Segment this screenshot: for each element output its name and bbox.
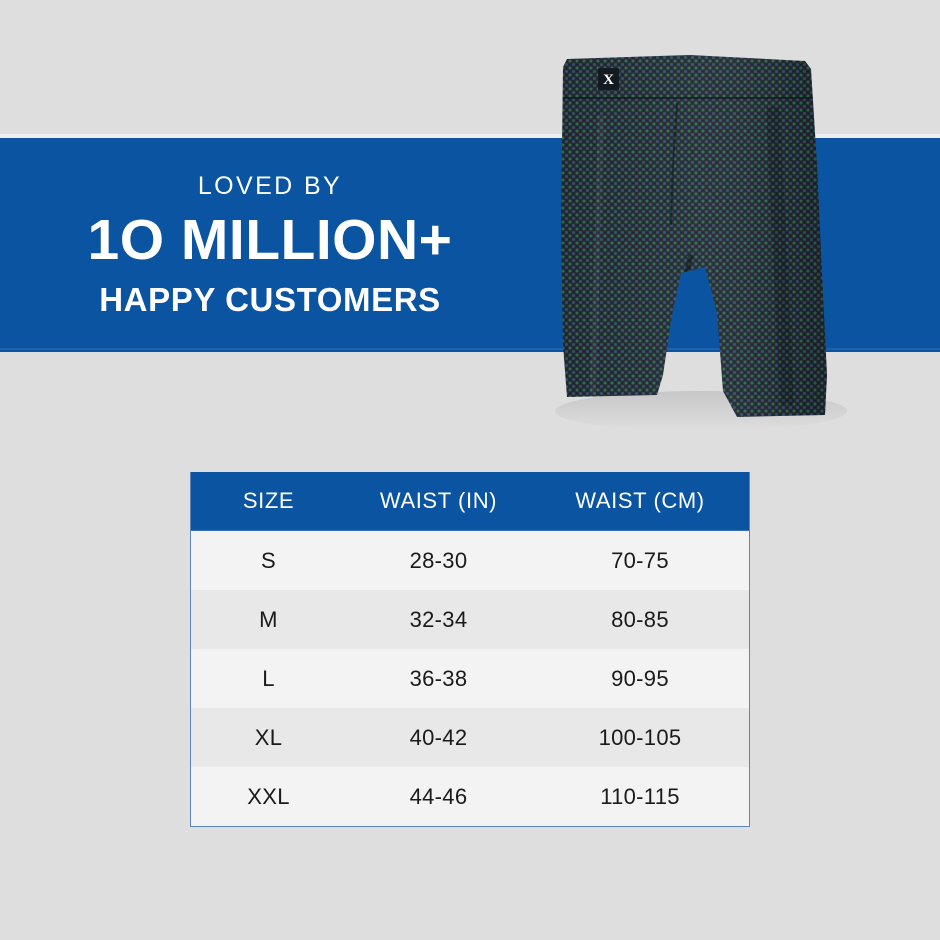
product-image: X [505, 45, 855, 435]
promo-subline: HAPPY CUSTOMERS [99, 283, 441, 316]
table-row: M 32-34 80-85 [191, 590, 749, 649]
cell-size: M [191, 609, 346, 631]
cell-size: XXL [191, 786, 346, 808]
cell-waist-in: 32-34 [346, 609, 531, 631]
cell-waist-cm: 90-95 [531, 668, 749, 690]
table-row: S 28-30 70-75 [191, 531, 749, 590]
cell-waist-in: 40-42 [346, 727, 531, 749]
brand-label-glyph: X [603, 72, 614, 88]
cell-waist-cm: 80-85 [531, 609, 749, 631]
cell-waist-in: 28-30 [346, 550, 531, 572]
column-header-waist-in: WAIST (IN) [346, 490, 531, 512]
table-row: XXL 44-46 110-115 [191, 767, 749, 826]
size-chart-table: SIZE WAIST (IN) WAIST (CM) S 28-30 70-75… [190, 472, 750, 827]
cell-waist-cm: 110-115 [531, 786, 749, 808]
column-header-size: SIZE [191, 490, 346, 512]
cell-waist-in: 44-46 [346, 786, 531, 808]
cell-waist-in: 36-38 [346, 668, 531, 690]
cell-size: XL [191, 727, 346, 749]
cell-size: L [191, 668, 346, 690]
cell-size: S [191, 550, 346, 572]
cell-waist-cm: 100-105 [531, 727, 749, 749]
promo-banner-text: LOVED BY 1O MILLION+ HAPPY CUSTOMERS [0, 138, 540, 352]
table-header-row: SIZE WAIST (IN) WAIST (CM) [191, 472, 749, 531]
cell-waist-cm: 70-75 [531, 550, 749, 572]
promo-eyebrow: LOVED BY [198, 174, 342, 199]
column-header-waist-cm: WAIST (CM) [531, 490, 749, 512]
promo-headline: 1O MILLION+ [88, 212, 453, 269]
table-row: L 36-38 90-95 [191, 649, 749, 708]
size-chart-page: LOVED BY 1O MILLION+ HAPPY CUSTOMERS [0, 0, 940, 940]
table-row: XL 40-42 100-105 [191, 708, 749, 767]
